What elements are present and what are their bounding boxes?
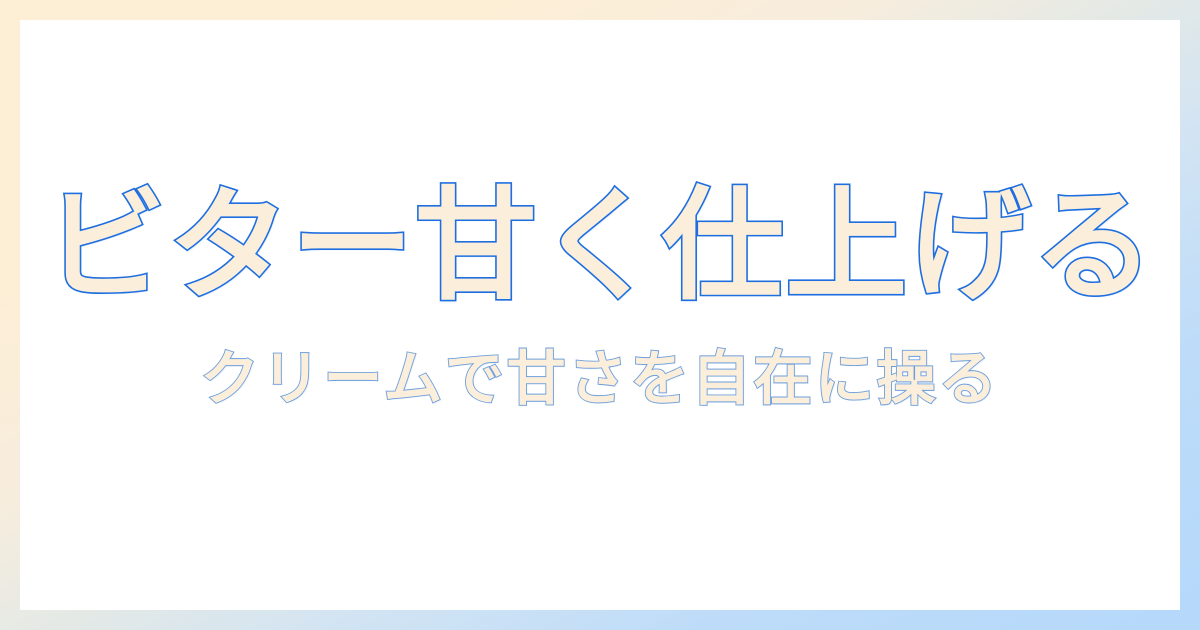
banner-text-block: ビター甘く仕上げる クリームで甘さを自在に操る: [20, 182, 1180, 412]
banner-frame: ビター甘く仕上げる クリームで甘さを自在に操る: [0, 0, 1200, 630]
banner-subheadline: クリームで甘さを自在に操る: [200, 347, 1000, 412]
banner-card: ビター甘く仕上げる クリームで甘さを自在に操る: [20, 20, 1180, 610]
banner-headline: ビター甘く仕上げる: [44, 182, 1155, 311]
